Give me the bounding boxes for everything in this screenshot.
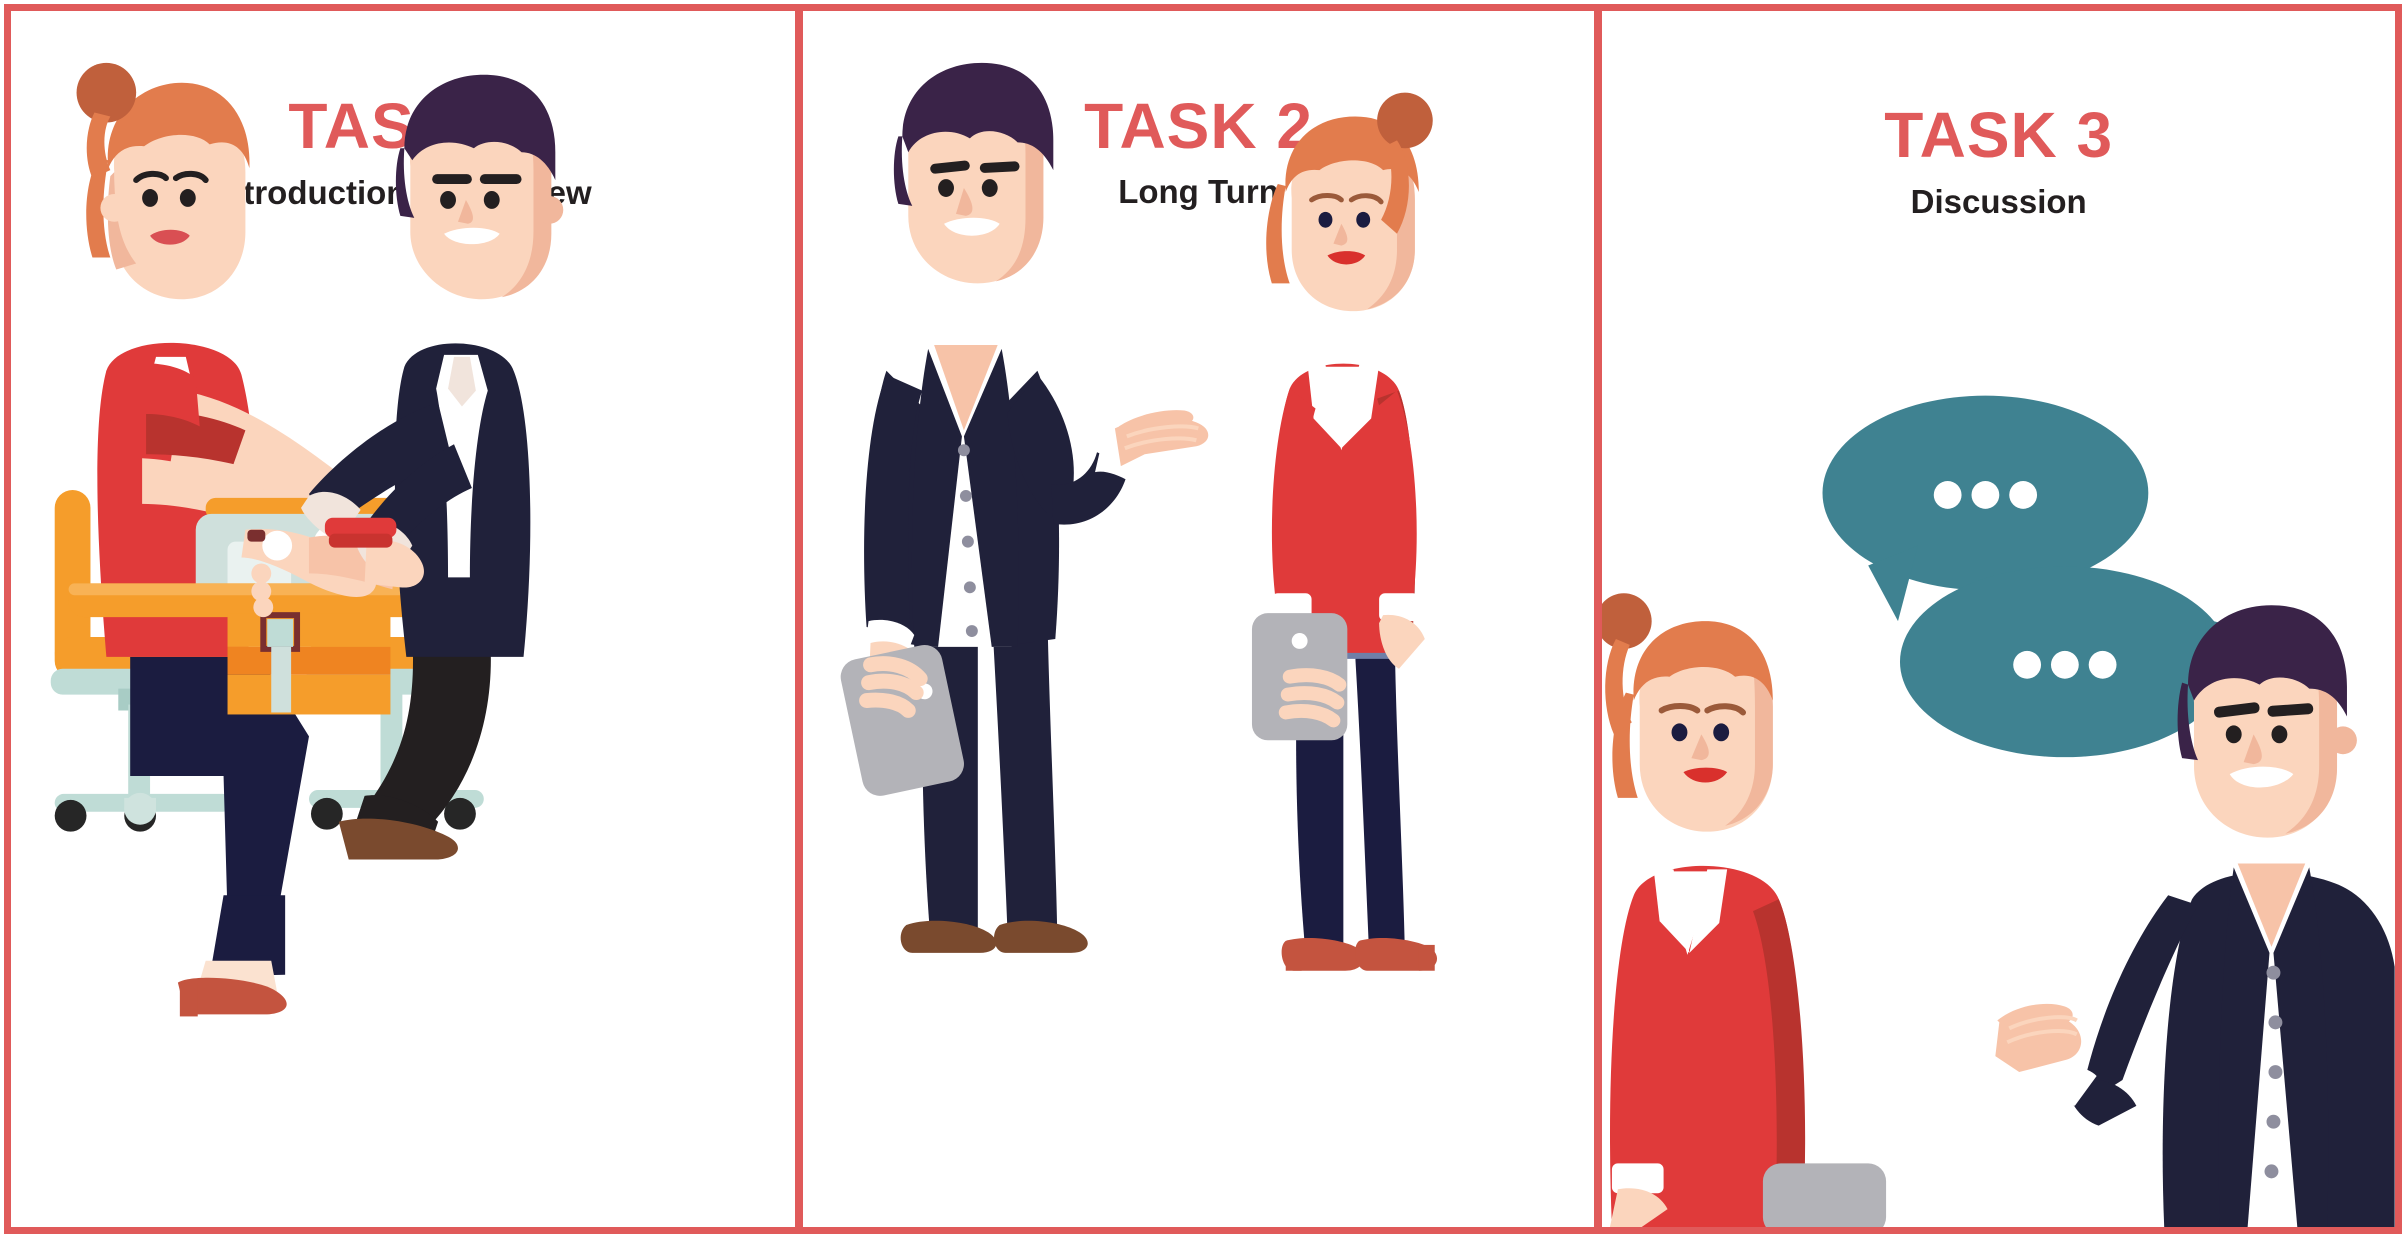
figure-woman-listener: [1252, 93, 1437, 971]
figure-man-interviewer: [301, 75, 563, 860]
illustration-interview: [11, 11, 795, 1227]
figure-man-speaker: [837, 63, 1208, 953]
panel-task-1[interactable]: TASK 1 Introduction & Interview: [11, 11, 795, 1227]
illustration-discussion: [1602, 11, 2395, 1227]
slide-root: TASK 1 Introduction & Interview: [0, 0, 2406, 1240]
panel-divider-1: [795, 11, 803, 1227]
illustration-long-turn: [803, 11, 1595, 1227]
panel-row: TASK 1 Introduction & Interview: [11, 11, 2395, 1227]
panel-divider-2: [1594, 11, 1602, 1227]
panel-task-2[interactable]: TASK 2 Long Turn: [803, 11, 1595, 1227]
figure-woman-discussant: [1602, 593, 1886, 1227]
panel-task-3[interactable]: TASK 3 Discussion: [1602, 11, 2395, 1227]
